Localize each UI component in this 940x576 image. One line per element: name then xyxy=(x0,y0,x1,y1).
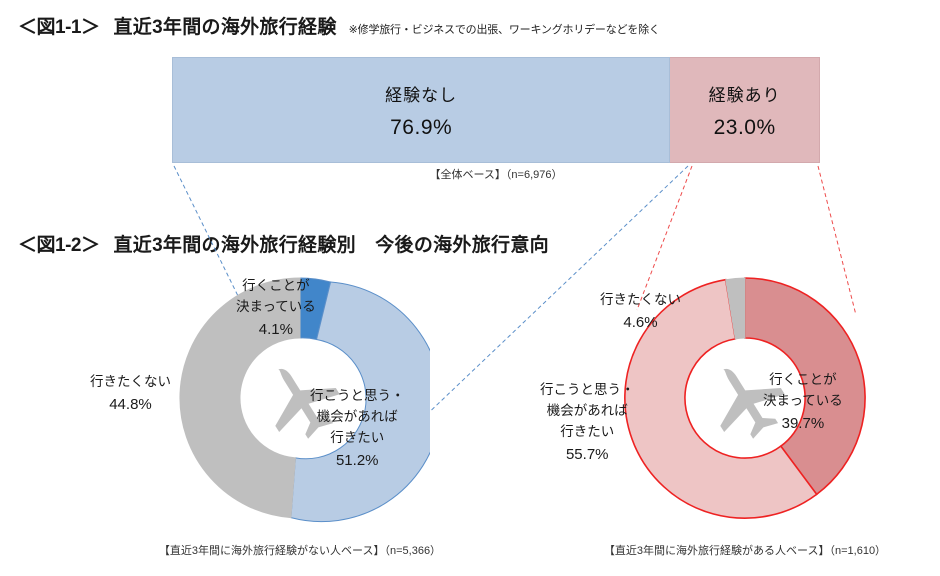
figure1-tag: ＜図1-1＞ xyxy=(18,12,99,39)
donut-left-label-want: 行こうと思う・ 機会があれば 行きたい 51.2% xyxy=(310,386,405,472)
donut-left-label-want-line3: 行きたい xyxy=(330,430,384,445)
figure2-tag: ＜図1-2＞ xyxy=(18,230,99,257)
bar-segment-no-experience: 経験なし 76.9% xyxy=(172,57,670,163)
donut-right-value-decided: 39.7% xyxy=(763,412,843,435)
donut-left-label-want-line1: 行こうと思う・ xyxy=(310,388,405,403)
experience-stacked-bar-chart: 経験なし 76.9% 経験あり 23.0% xyxy=(172,57,820,163)
bar-segment-has-experience-label: 経験あり xyxy=(709,81,781,106)
donut-left-value-want: 51.2% xyxy=(310,449,405,472)
donut-left-label-decided: 行くことが 決まっている 4.1% xyxy=(236,276,316,341)
bar-segment-has-experience-value: 23.0% xyxy=(714,116,776,140)
bar-segment-has-experience: 経験あり 23.0% xyxy=(670,57,820,163)
donut-right-label-want-line2: 機会があれば xyxy=(547,403,628,418)
donut-right-label-want: 行こうと思う・ 機会があれば 行きたい 55.7% xyxy=(540,380,635,466)
donut-chart-has-experience: 行きたくない 4.6% 行くことが 決まっている 39.7% 行こうと思う・ 機… xyxy=(530,268,940,568)
figure1-note: ※修学旅行・ビジネスでの出張、ワーキングホリデーなどを除く xyxy=(349,21,660,37)
donut-right-label-decided: 行くことが 決まっている 39.7% xyxy=(763,370,843,435)
donut-left-value-nowant: 44.8% xyxy=(90,393,171,416)
figure1-heading: ＜図1-1＞ 直近3年間の海外旅行経験 ※修学旅行・ビジネスでの出張、ワーキング… xyxy=(18,12,660,39)
figure2-base-note-left: 【直近3年間に海外旅行経験がない人ベース】（n=5,366） xyxy=(85,542,515,558)
donut-right-label-nowant-line1: 行きたくない xyxy=(600,292,681,307)
donut-right-label-decided-line1: 行くことが xyxy=(769,372,837,387)
donut-right-label-decided-line2: 決まっている xyxy=(763,393,843,408)
figure2-base-note-right: 【直近3年間に海外旅行経験がある人ベース】（n=1,610） xyxy=(530,542,940,558)
donut-right-label-nowant: 行きたくない 4.6% xyxy=(600,290,681,334)
bar-segment-no-experience-label: 経験なし xyxy=(385,81,457,106)
figure1-title: 直近3年間の海外旅行経験 xyxy=(113,12,336,39)
donut-left-label-want-line2: 機会があれば xyxy=(317,409,398,424)
donut-right-label-want-line1: 行こうと思う・ xyxy=(540,382,635,397)
donut-left-label-decided-line2: 決まっている xyxy=(236,299,316,314)
figure1-base-note: 【全体ベース】（n=6,976） xyxy=(172,166,820,182)
donut-right-value-nowant: 4.6% xyxy=(600,311,681,334)
donut-left-label-nowant-line1: 行きたくない xyxy=(90,374,171,389)
donut-right-label-want-line3: 行きたい xyxy=(560,424,614,439)
donut-chart-no-experience: 行くことが 決まっている 4.1% 行こうと思う・ 機会があれば 行きたい 51… xyxy=(85,268,515,568)
donut-left-value-decided: 4.1% xyxy=(236,318,316,341)
donut-left-label-decided-line1: 行くことが xyxy=(242,278,310,293)
figure2-title: 直近3年間の海外旅行経験別 今後の海外旅行意向 xyxy=(113,230,548,257)
bar-segment-no-experience-value: 76.9% xyxy=(390,116,452,140)
donut-left-label-nowant: 行きたくない 44.8% xyxy=(90,372,171,416)
figure2-heading: ＜図1-2＞ 直近3年間の海外旅行経験別 今後の海外旅行意向 xyxy=(18,230,549,257)
donut-right-value-want: 55.7% xyxy=(540,443,635,466)
